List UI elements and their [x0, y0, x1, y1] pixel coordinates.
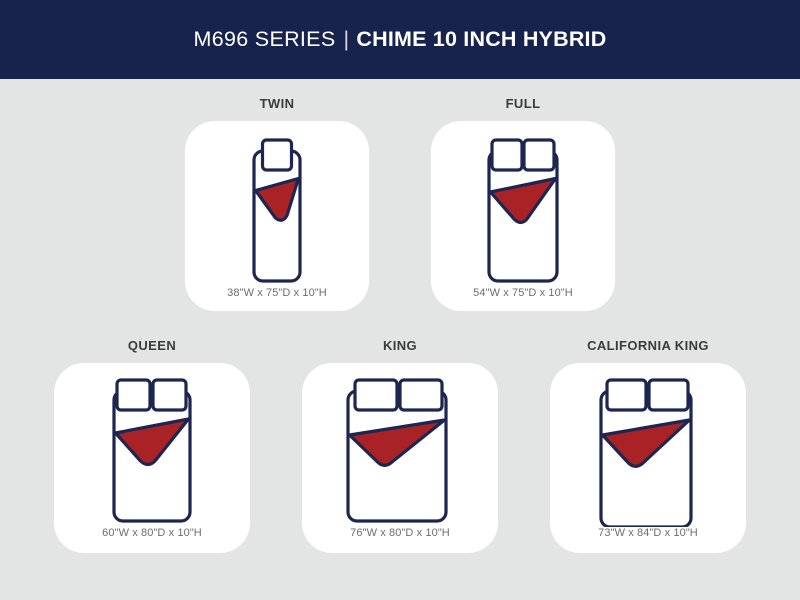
size-label-queen: QUEEN	[128, 338, 176, 353]
bed-illustration-wrap	[185, 137, 369, 287]
size-item-queen[interactable]: QUEEN 60"W x 80"D x 10"H	[54, 338, 250, 553]
bed-illustration-wrap	[302, 377, 498, 527]
size-row-bottom: QUEEN 60"W x 80"D x 10"H KING	[0, 338, 800, 553]
size-dimensions-king: 76"W x 80"D x 10"H	[350, 527, 450, 553]
size-chart-page: M696 SERIES | CHIME 10 INCH HYBRID TWIN	[0, 0, 800, 600]
size-label-full: FULL	[506, 96, 541, 111]
size-dimensions-twin: 38"W x 75"D x 10"H	[227, 287, 327, 313]
size-dimensions-full: 54"W x 75"D x 10"H	[473, 287, 573, 313]
size-item-california-king[interactable]: CALIFORNIA KING 73"W x 84"D x 10"H	[550, 338, 746, 553]
size-card-king[interactable]: 76"W x 80"D x 10"H	[302, 363, 498, 553]
size-dimensions-california-king: 73"W x 84"D x 10"H	[598, 527, 698, 553]
size-item-king[interactable]: KING 76"W x 80"D x 10"H	[302, 338, 498, 553]
size-card-queen[interactable]: 60"W x 80"D x 10"H	[54, 363, 250, 553]
bed-illustration-wrap	[431, 137, 615, 287]
bed-queen-icon	[89, 377, 215, 527]
model-name: CHIME 10 INCH HYBRID	[356, 27, 606, 52]
size-item-full[interactable]: FULL 54"W x 75"D x 10"H	[431, 96, 615, 311]
size-row-top: TWIN 38"W x 75"D x 10"H FULL	[0, 96, 800, 311]
size-card-full[interactable]: 54"W x 75"D x 10"H	[431, 121, 615, 311]
header-bar: M696 SERIES | CHIME 10 INCH HYBRID	[0, 0, 800, 79]
size-dimensions-queen: 60"W x 80"D x 10"H	[102, 527, 202, 553]
size-label-king: KING	[383, 338, 417, 353]
bed-full-icon	[464, 137, 582, 287]
bed-illustration-wrap	[54, 377, 250, 527]
size-card-california-king[interactable]: 73"W x 84"D x 10"H	[550, 363, 746, 553]
size-card-twin[interactable]: 38"W x 75"D x 10"H	[185, 121, 369, 311]
bed-king-icon	[330, 377, 470, 527]
size-item-twin[interactable]: TWIN 38"W x 75"D x 10"H	[185, 96, 369, 311]
series-name: M696 SERIES	[194, 27, 336, 52]
title-separator: |	[343, 27, 349, 52]
bed-twin-icon	[225, 137, 329, 287]
bed-illustration-wrap	[550, 377, 746, 527]
size-label-california-king: CALIFORNIA KING	[587, 338, 709, 353]
size-label-twin: TWIN	[260, 96, 295, 111]
page-title: M696 SERIES | CHIME 10 INCH HYBRID	[194, 27, 607, 52]
bed-california-king-icon	[581, 377, 715, 527]
